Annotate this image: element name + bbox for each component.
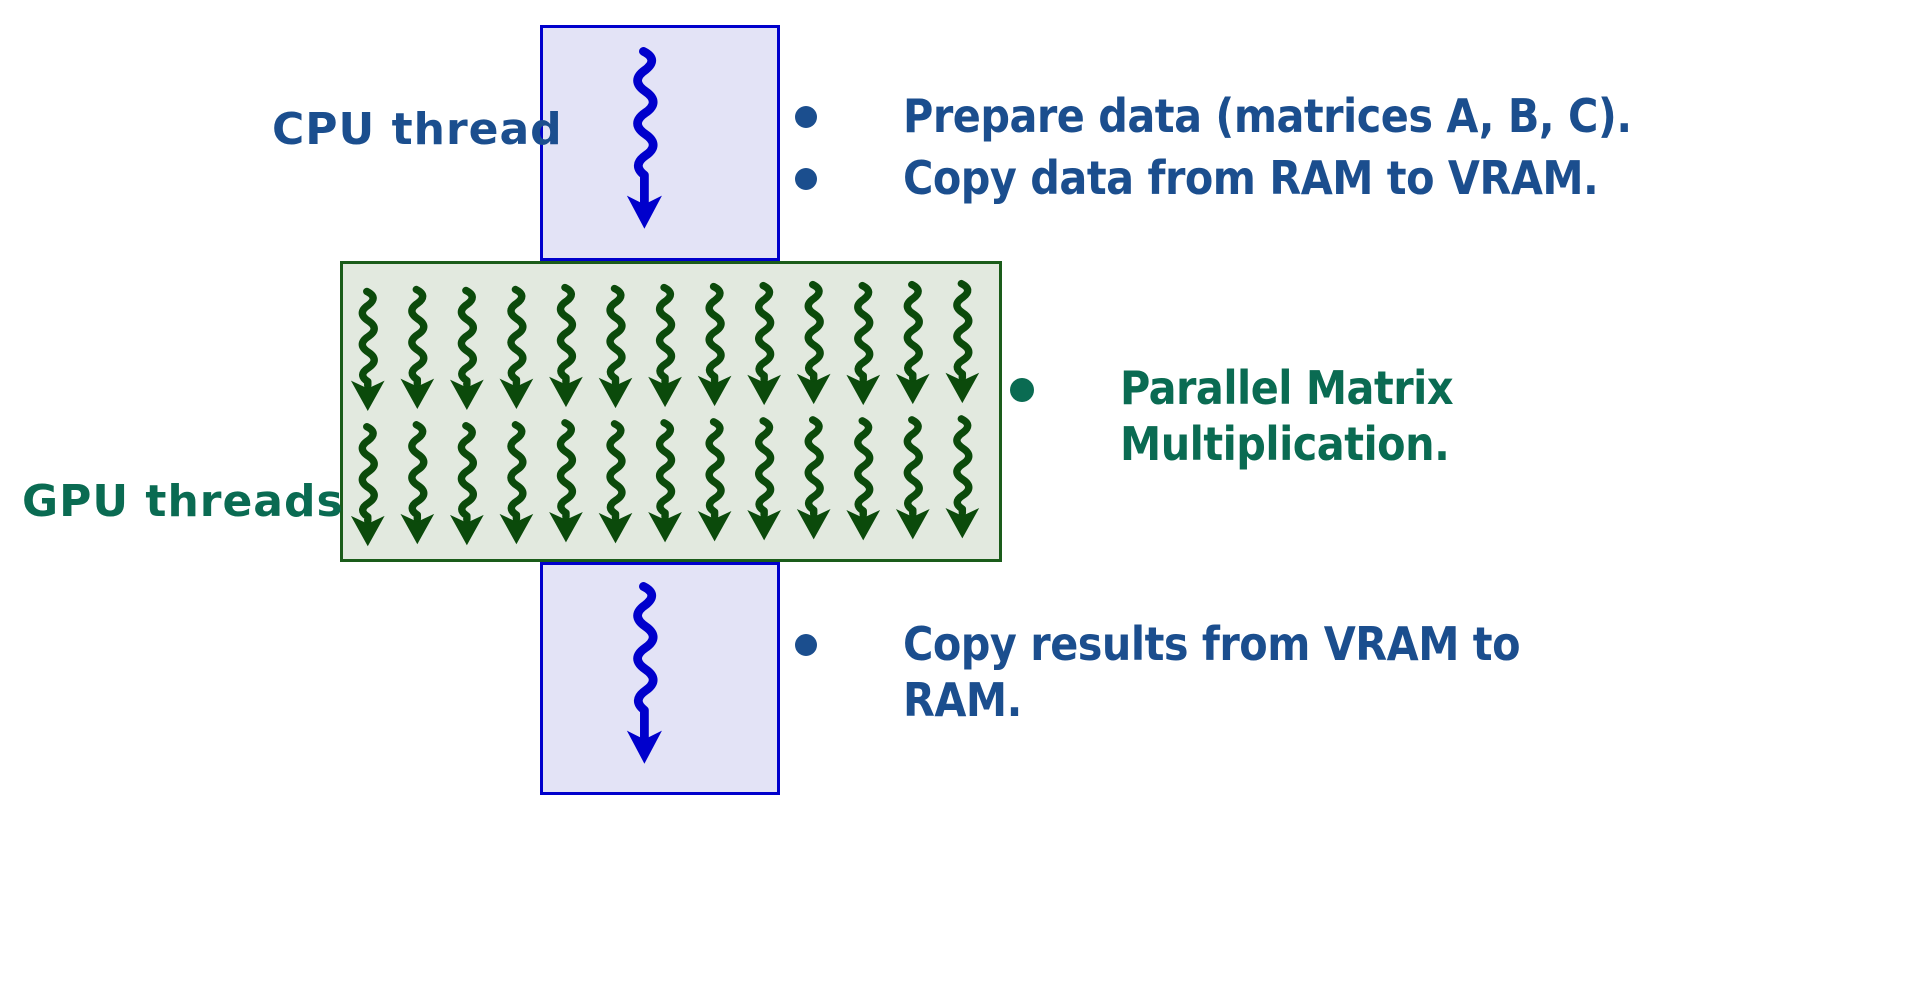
cpu-top-arrow-layer [543, 28, 777, 258]
gpu-threads-label: GPU threads [22, 476, 344, 527]
cpu-squiggle-arrow-down [638, 51, 654, 202]
bullet-label: Copy results from VRAM to RAM. [903, 616, 1520, 728]
bullet-item-copy-results-to-ram: Copy results from VRAM to RAM. [795, 616, 1575, 728]
bullet-item-copy-to-vram: Copy data from RAM to VRAM. [795, 150, 1598, 206]
bullet-label: Copy data from RAM to VRAM. [903, 150, 1598, 206]
gpu-arrow-grid-layer [343, 264, 999, 559]
cpu-bottom-arrow-layer [543, 565, 777, 792]
gpu-arrow-row-1 [351, 284, 979, 411]
bullet-dot-icon [795, 106, 817, 128]
bullet-dot-icon [795, 168, 817, 190]
cpu-arrowhead-down [627, 731, 662, 764]
cpu-arrowhead-down [627, 196, 662, 229]
gpu-threads-box [340, 261, 1002, 562]
cpu-thread-box-bottom [540, 562, 780, 795]
bullet-label: Parallel Matrix Multiplication. [1120, 360, 1453, 472]
gpu-arrow-row-2 [351, 419, 979, 546]
bullet-dot-icon [795, 634, 817, 656]
diagram-canvas: CPU thread GPU threads Prepare data (mat… [0, 0, 1913, 1000]
cpu-thread-box-top [540, 25, 780, 261]
bullet-item-prepare-data: Prepare data (matrices A, B, C). [795, 88, 1632, 144]
cpu-thread-label: CPU thread [272, 104, 563, 155]
bullet-item-parallel-matrix-multiplication: Parallel Matrix Multiplication. [1010, 360, 1570, 472]
bullet-dot-icon [1010, 378, 1034, 402]
cpu-squiggle-arrow-down [638, 586, 654, 737]
bullet-label: Prepare data (matrices A, B, C). [903, 88, 1632, 144]
